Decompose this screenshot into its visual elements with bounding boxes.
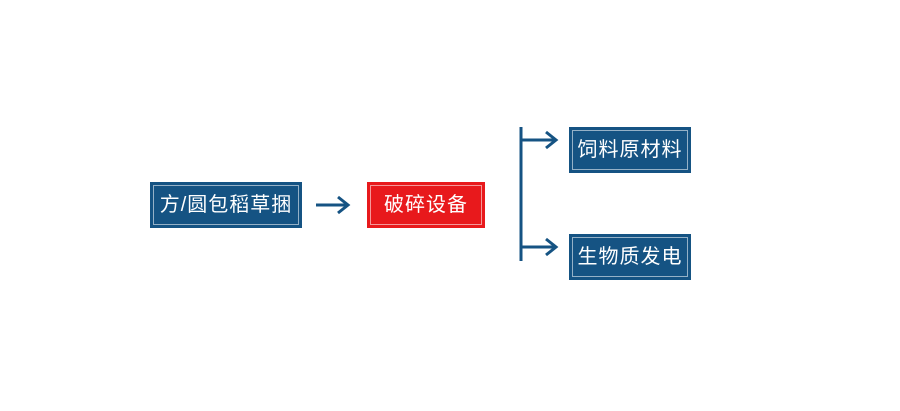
node-input[interactable]: 方/圆包稻草捆 <box>150 182 302 228</box>
node-input-label: 方/圆包稻草捆 <box>160 195 293 215</box>
arrow-input-to-process-icon <box>314 192 358 218</box>
node-output-feedstock[interactable]: 饲料原材料 <box>569 127 691 173</box>
node-output-feedstock-label: 饲料原材料 <box>578 140 683 160</box>
node-process[interactable]: 破碎设备 <box>367 182 485 228</box>
arrow-branch-to-output1-icon <box>518 127 566 153</box>
node-output-biomass-power[interactable]: 生物质发电 <box>569 234 691 280</box>
diagram-canvas: 方/圆包稻草捆 破碎设备 饲料原材料 生物质发电 <box>0 0 900 411</box>
arrow-branch-to-output2-icon <box>518 234 566 260</box>
node-process-label: 破碎设备 <box>384 195 468 215</box>
node-output-biomass-power-label: 生物质发电 <box>578 247 683 267</box>
